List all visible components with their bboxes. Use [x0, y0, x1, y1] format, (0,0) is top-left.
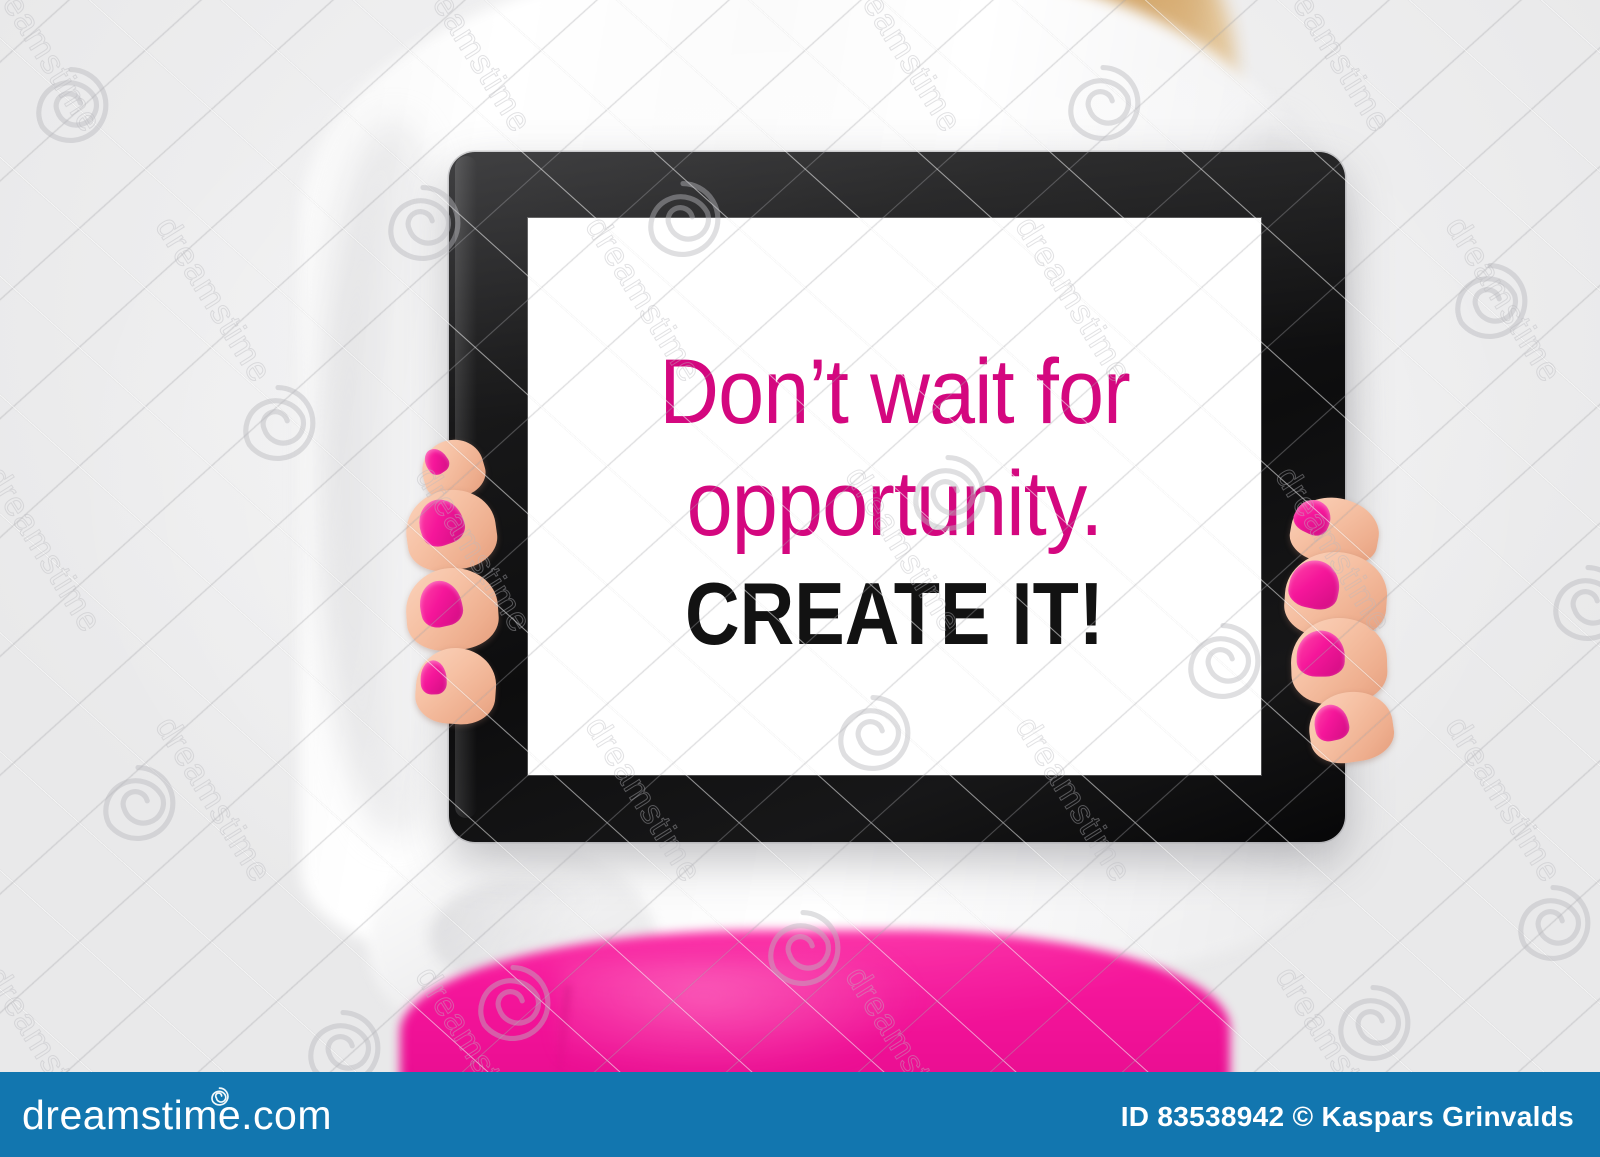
finger	[403, 565, 500, 653]
image-credit: ID 83538942 © Kaspars Grinvalds	[1121, 1101, 1574, 1133]
fingernail	[420, 444, 453, 478]
left-hand	[398, 440, 518, 730]
quote-line-1: Don’t wait for	[565, 346, 1225, 440]
tablet-screen[interactable]: Don’t wait for opportunity. CREATE IT!	[528, 218, 1261, 775]
fingernail	[1311, 702, 1352, 744]
spiral-icon	[209, 1086, 230, 1107]
finger	[413, 645, 498, 726]
brand-text: dreamstime.com	[22, 1092, 332, 1138]
quote-line-2: opportunity.	[565, 458, 1225, 552]
pink-skirt-highlight	[560, 960, 920, 1072]
tablet-device[interactable]: Don’t wait for opportunity. CREATE IT!	[449, 152, 1345, 842]
fingernail	[1285, 556, 1344, 613]
fingernail	[1297, 631, 1345, 677]
fingernail	[420, 660, 447, 695]
fingernail	[415, 577, 466, 631]
watermark-footer-bar: dreamstime.com ID 83538942 © Kaspars Gri…	[0, 1072, 1600, 1157]
dreamstime-logo: dreamstime.com	[22, 1092, 332, 1139]
stock-photo-stage: Don’t wait for opportunity. CREATE IT! d…	[0, 0, 1600, 1157]
fingernail	[412, 493, 469, 551]
fingernail	[1289, 494, 1336, 540]
photograph: Don’t wait for opportunity. CREATE IT! d…	[0, 0, 1600, 1072]
finger	[401, 484, 501, 576]
right-hand	[1283, 440, 1413, 740]
quote-line-3: CREATE IT!	[579, 569, 1209, 659]
motivational-quote: Don’t wait for opportunity. CREATE IT!	[528, 346, 1261, 659]
